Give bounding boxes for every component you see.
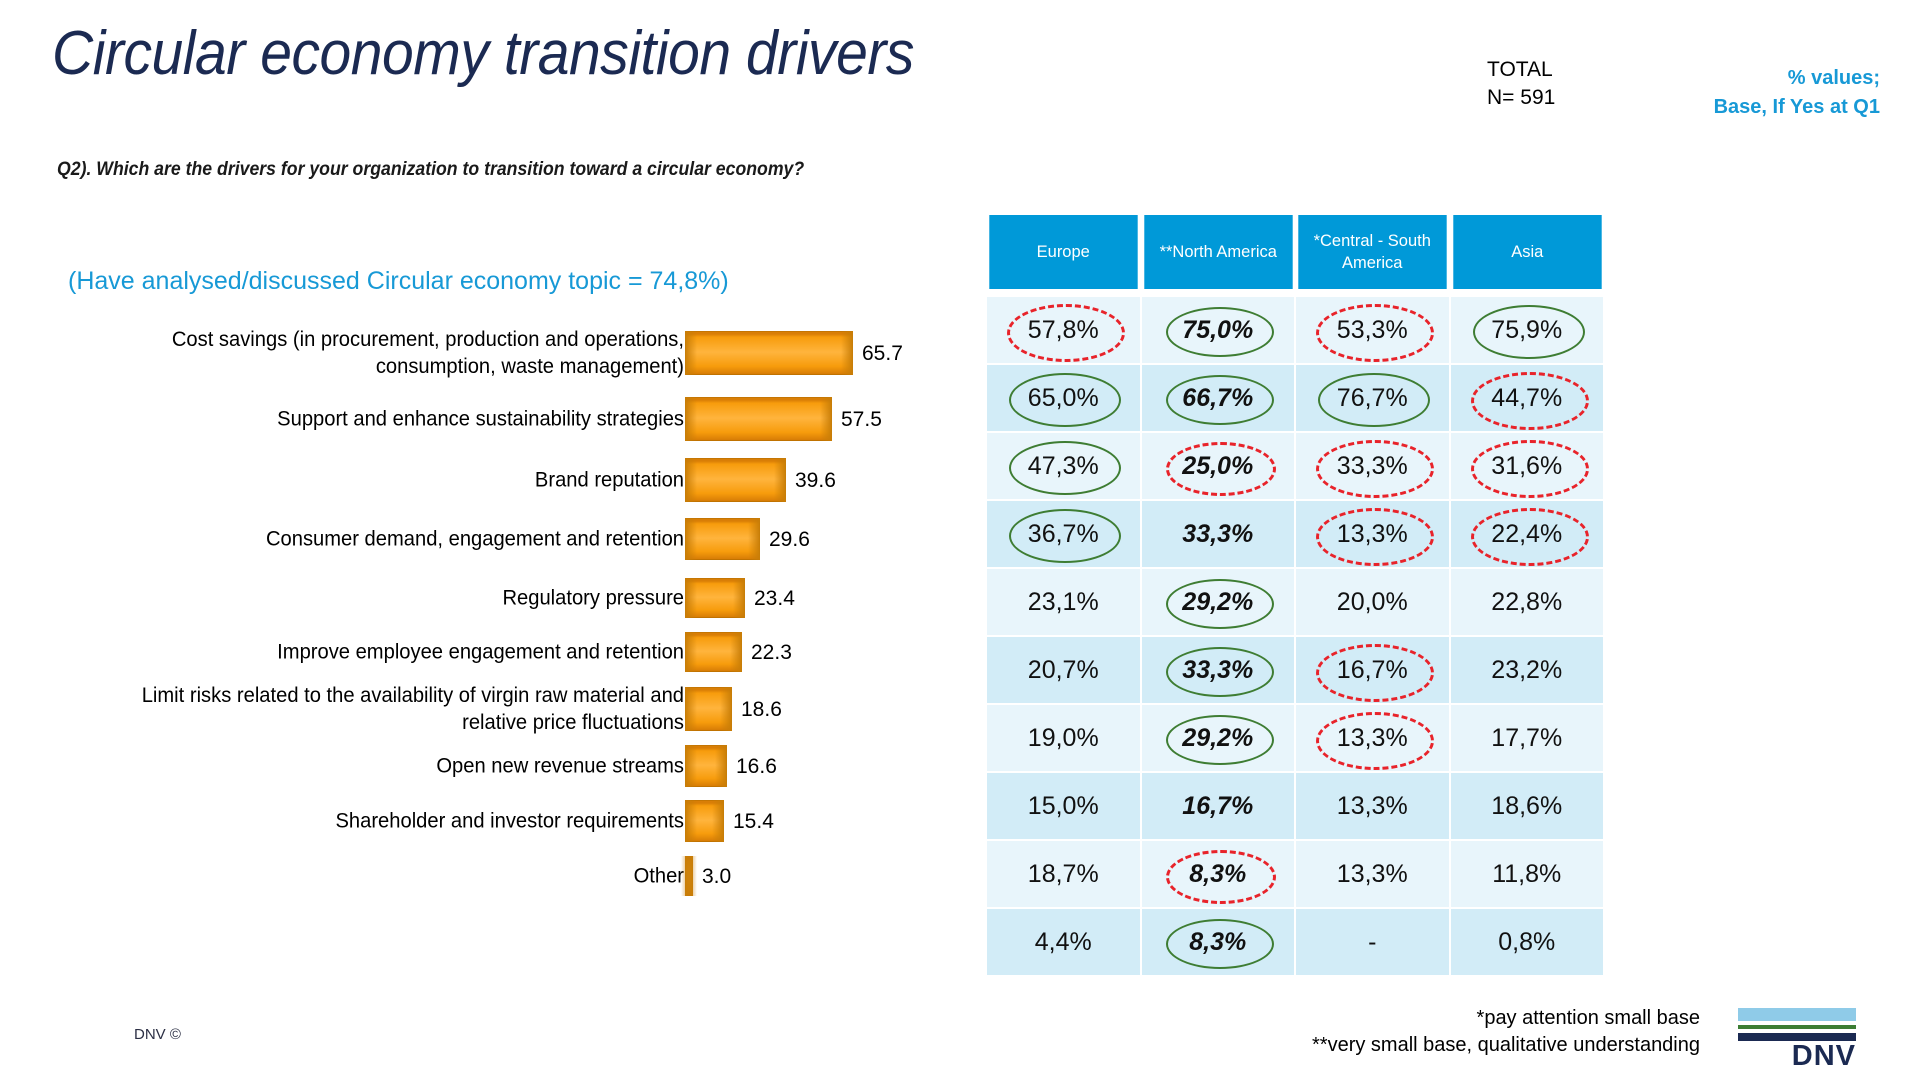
table-cell: 33,3% — [1142, 637, 1295, 703]
table-cell-value: 75,0% — [1176, 316, 1259, 345]
bar-wrapper — [685, 578, 745, 618]
table-cell: 13,3% — [1296, 841, 1449, 907]
bar — [685, 518, 760, 560]
table-cell: 19,0% — [987, 705, 1140, 771]
table-cell: 0,8% — [1451, 909, 1604, 975]
table-row: 65,0%66,7%76,7%44,7% — [987, 365, 1603, 431]
table-row: 36,7%33,3%13,3%22,4% — [987, 501, 1603, 567]
table-cell-value: 65,0% — [1022, 384, 1105, 413]
bar-wrapper — [685, 458, 786, 502]
table-cell: 23,2% — [1451, 637, 1604, 703]
bar-category-label: Support and enhance sustainability strat… — [118, 406, 684, 433]
table-cell: 33,3% — [1142, 501, 1295, 567]
bar-value-label: 3.0 — [702, 865, 731, 889]
table-cell: 8,3% — [1142, 841, 1295, 907]
table-body: 57,8%75,0%53,3%75,9%65,0%66,7%76,7%44,7%… — [987, 291, 1603, 975]
table-cell-value: 22,8% — [1485, 588, 1568, 617]
bar-wrapper — [685, 397, 832, 441]
bar-category-label: Limit risks related to the availability … — [118, 682, 684, 736]
table-header-row: Europe **North America *Central - South … — [987, 215, 1603, 289]
table-cell-value: 76,7% — [1331, 384, 1414, 413]
table-cell: 33,3% — [1296, 433, 1449, 499]
bar-category-label: Shareholder and investor requirements — [118, 808, 684, 835]
column-header-central-south-america: *Central - South America — [1298, 215, 1446, 289]
table-cell: 17,7% — [1451, 705, 1604, 771]
table-cell-value: 20,0% — [1331, 588, 1414, 617]
bar-wrapper — [685, 800, 724, 842]
table-cell-value: 18,7% — [1022, 860, 1105, 889]
footnote-double-star: **very small base, qualitative understan… — [1180, 1032, 1700, 1059]
bar — [685, 687, 732, 731]
table-cell-value: 17,7% — [1485, 724, 1568, 753]
bar — [685, 800, 724, 842]
bar-category-label: Other — [118, 863, 684, 890]
table-cell: 11,8% — [1451, 841, 1604, 907]
table-cell: 13,3% — [1296, 705, 1449, 771]
percent-values-line1: % values; — [1400, 64, 1880, 93]
bar-value-label: 39.6 — [795, 469, 836, 493]
table-cell-value: 44,7% — [1485, 384, 1568, 413]
bar-category-label: Open new revenue streams — [118, 753, 684, 780]
table-cell: 16,7% — [1142, 773, 1295, 839]
table-cell-value: 31,6% — [1485, 452, 1568, 481]
table-cell-value: 18,6% — [1485, 792, 1568, 821]
table-cell-value: 11,8% — [1486, 860, 1567, 889]
table-cell: 31,6% — [1451, 433, 1604, 499]
table-cell-value: 13,3% — [1331, 860, 1414, 889]
table-row: 15,0%16,7%13,3%18,6% — [987, 773, 1603, 839]
table-cell: 15,0% — [987, 773, 1140, 839]
table-cell: 47,3% — [987, 433, 1140, 499]
column-header-north-america: **North America — [1144, 215, 1292, 289]
table-row: 19,0%29,2%13,3%17,7% — [987, 705, 1603, 771]
table-cell-value: 33,3% — [1176, 520, 1259, 549]
table-cell-value: 25,0% — [1176, 452, 1259, 481]
table-cell: 8,3% — [1142, 909, 1295, 975]
percent-values-note: % values; Base, If Yes at Q1 — [1400, 64, 1880, 122]
table-cell: 66,7% — [1142, 365, 1295, 431]
bar-category-label: Regulatory pressure — [118, 585, 684, 612]
table-cell: 25,0% — [1142, 433, 1295, 499]
table-cell: 57,8% — [987, 291, 1140, 363]
bar-category-label: Brand reputation — [118, 467, 684, 494]
dnv-logo: DNV — [1738, 1008, 1856, 1066]
table-cell: 29,2% — [1142, 705, 1295, 771]
logo-wordmark: DNV — [1738, 1041, 1856, 1071]
footnote-single-star: *pay attention small base — [1180, 1005, 1700, 1032]
bar-wrapper — [685, 856, 693, 896]
table-cell-value: 22,4% — [1485, 520, 1568, 549]
bar-wrapper — [685, 745, 727, 787]
table-cell: 44,7% — [1451, 365, 1604, 431]
table-cell-value: 16,7% — [1331, 656, 1414, 685]
bar-value-label: 16.6 — [736, 755, 777, 779]
table-cell: 18,7% — [987, 841, 1140, 907]
bar — [685, 578, 745, 618]
table-cell-value: 13,3% — [1331, 792, 1414, 821]
table-row: 47,3%25,0%33,3%31,6% — [987, 433, 1603, 499]
table-cell-value: 66,7% — [1176, 384, 1259, 413]
bar — [685, 331, 853, 375]
bar-category-label: Improve employee engagement and retentio… — [118, 639, 684, 666]
bar-wrapper — [685, 687, 732, 731]
table-cell: 16,7% — [1296, 637, 1449, 703]
table-row: 23,1%29,2%20,0%22,8% — [987, 569, 1603, 635]
table-cell: 53,3% — [1296, 291, 1449, 363]
logo-bar-green — [1738, 1025, 1856, 1029]
table-cell: 75,0% — [1142, 291, 1295, 363]
table-cell-value: 13,3% — [1331, 520, 1414, 549]
table-cell-value: 15,0% — [1022, 792, 1105, 821]
bar-wrapper — [685, 632, 742, 672]
table-cell-value: 20,7% — [1022, 656, 1105, 685]
table-cell-value: 57,8% — [1022, 316, 1105, 345]
bar — [685, 856, 693, 896]
table-cell: 18,6% — [1451, 773, 1604, 839]
bar-value-label: 29.6 — [769, 528, 810, 552]
table-cell: 22,4% — [1451, 501, 1604, 567]
table-cell: 4,4% — [987, 909, 1140, 975]
table-cell-value: 0,8% — [1492, 928, 1561, 957]
bar — [685, 632, 742, 672]
table-cell-value: 29,2% — [1176, 588, 1259, 617]
bar — [685, 458, 786, 502]
column-header-europe: Europe — [989, 215, 1137, 289]
bar-value-label: 18.6 — [741, 698, 782, 722]
table-cell-value: 19,0% — [1022, 724, 1105, 753]
table-cell-value: 16,7% — [1176, 792, 1259, 821]
table-cell-value: 33,3% — [1176, 656, 1259, 685]
percent-values-line2: Base, If Yes at Q1 — [1400, 93, 1880, 122]
analysed-topic-note: (Have analysed/discussed Circular econom… — [68, 267, 729, 296]
table-cell-value: 8,3% — [1183, 860, 1252, 889]
question-text: Q2). Which are the drivers for your orga… — [57, 159, 804, 181]
bar-value-label: 65.7 — [862, 342, 903, 366]
table-cell-value: 8,3% — [1183, 928, 1252, 957]
table-cell: 23,1% — [987, 569, 1140, 635]
table-cell-value: 47,3% — [1022, 452, 1105, 481]
table-cell-value: 13,3% — [1331, 724, 1414, 753]
bar — [685, 397, 832, 441]
table-row: 20,7%33,3%16,7%23,2% — [987, 637, 1603, 703]
table-cell-value: 75,9% — [1485, 316, 1568, 345]
table-cell: 20,7% — [987, 637, 1140, 703]
dnv-copyright: DNV © — [134, 1026, 181, 1043]
bar-value-label: 57.5 — [841, 408, 882, 432]
table-cell: 36,7% — [987, 501, 1140, 567]
table-cell-value: 36,7% — [1022, 520, 1105, 549]
table-cell-value: 23,1% — [1022, 588, 1105, 617]
footnotes: *pay attention small base **very small b… — [1180, 1005, 1700, 1059]
bar-category-label: Cost savings (in procurement, production… — [118, 326, 684, 380]
bar-wrapper — [685, 331, 853, 375]
table-cell-value: - — [1362, 928, 1382, 957]
table-cell: 13,3% — [1296, 773, 1449, 839]
table-cell: 13,3% — [1296, 501, 1449, 567]
table-row: 57,8%75,0%53,3%75,9% — [987, 291, 1603, 363]
table-cell: 20,0% — [1296, 569, 1449, 635]
page-title: Circular economy transition drivers — [52, 18, 914, 89]
bar-value-label: 15.4 — [733, 810, 774, 834]
bar-wrapper — [685, 518, 760, 560]
logo-bar-lightblue — [1738, 1008, 1856, 1021]
table-cell-value: 23,2% — [1485, 656, 1568, 685]
table-cell: 75,9% — [1451, 291, 1604, 363]
column-header-asia: Asia — [1453, 215, 1601, 289]
table-cell: 76,7% — [1296, 365, 1449, 431]
bar — [685, 745, 727, 787]
bar-value-label: 22.3 — [751, 641, 792, 665]
table-cell-value: 29,2% — [1176, 724, 1259, 753]
region-breakdown-table: Europe **North America *Central - South … — [985, 213, 1605, 977]
table-cell-value: 33,3% — [1331, 452, 1414, 481]
table-cell: - — [1296, 909, 1449, 975]
bar-category-label: Consumer demand, engagement and retentio… — [118, 526, 684, 553]
bar-value-label: 23.4 — [754, 587, 795, 611]
table-cell: 29,2% — [1142, 569, 1295, 635]
table-cell: 22,8% — [1451, 569, 1604, 635]
table-cell: 65,0% — [987, 365, 1140, 431]
bar-chart: Cost savings (in procurement, production… — [40, 315, 960, 975]
table-row: 18,7%8,3%13,3%11,8% — [987, 841, 1603, 907]
table-cell-value: 53,3% — [1331, 316, 1414, 345]
table-row: 4,4%8,3%-0,8% — [987, 909, 1603, 975]
table-cell-value: 4,4% — [1029, 928, 1098, 957]
